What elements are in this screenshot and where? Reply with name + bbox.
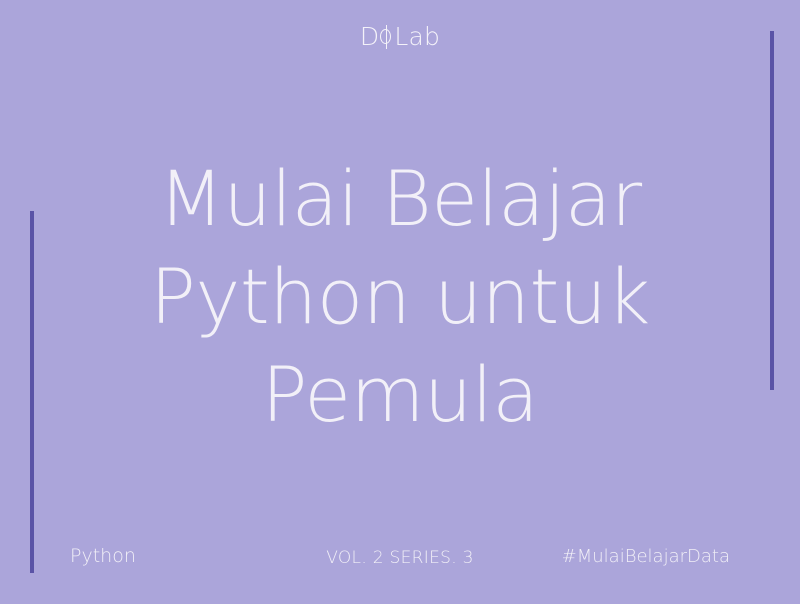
brand-letters-lab: Lab: [394, 24, 440, 50]
poster-canvas: D Lab Mulai Belajar Python untuk Pemula …: [0, 0, 800, 604]
brand-logo-wordmark: D Lab: [360, 24, 440, 50]
title-line-3: Pemula: [0, 346, 800, 444]
title-line-1: Mulai Belajar: [0, 150, 800, 248]
footer-hashtag-label: #MulaiBelajarData: [562, 545, 730, 569]
brand-logo: D Lab: [0, 24, 800, 50]
phi-stem: [386, 25, 388, 49]
footer-bar: Python VOL. 2 SERIES. 3 #MulaiBelajarDat…: [0, 536, 800, 576]
title-line-2: Python untuk: [0, 248, 800, 346]
phi-logo-mark-icon: [379, 24, 394, 50]
brand-letter-d: D: [360, 24, 379, 50]
page-title: Mulai Belajar Python untuk Pemula: [0, 150, 800, 444]
